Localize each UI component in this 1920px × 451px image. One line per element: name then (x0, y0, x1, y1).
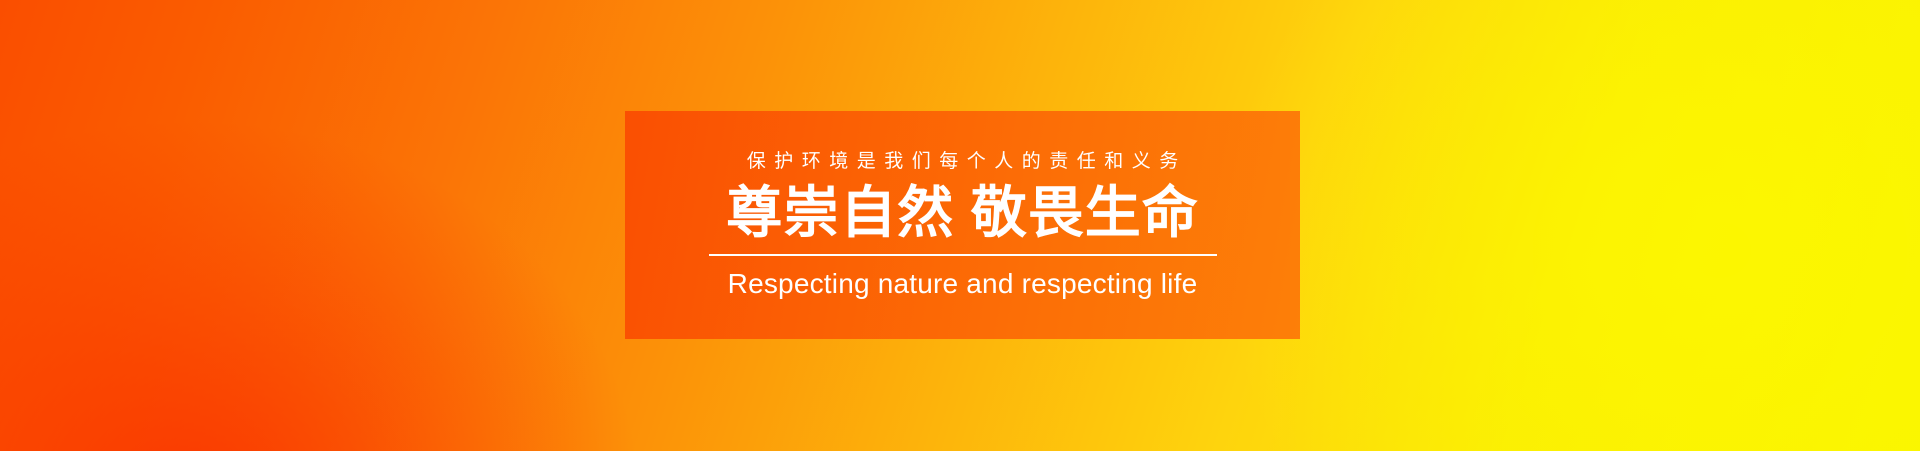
eyebrow-text: 保护环境是我们每个人的责任和义务 (738, 152, 1187, 171)
background-warm-glow (0, 120, 640, 451)
headline-text: 尊崇自然 敬畏生命 (726, 184, 1199, 241)
slogan-panel: 保护环境是我们每个人的责任和义务 尊崇自然 敬畏生命 Respecting na… (625, 111, 1300, 339)
banner-background: 保护环境是我们每个人的责任和义务 尊崇自然 敬畏生命 Respecting na… (0, 0, 1920, 451)
divider-rule (709, 254, 1217, 256)
background-yellow-glow (1220, 0, 1920, 451)
subtitle-text: Respecting nature and respecting life (728, 270, 1198, 298)
